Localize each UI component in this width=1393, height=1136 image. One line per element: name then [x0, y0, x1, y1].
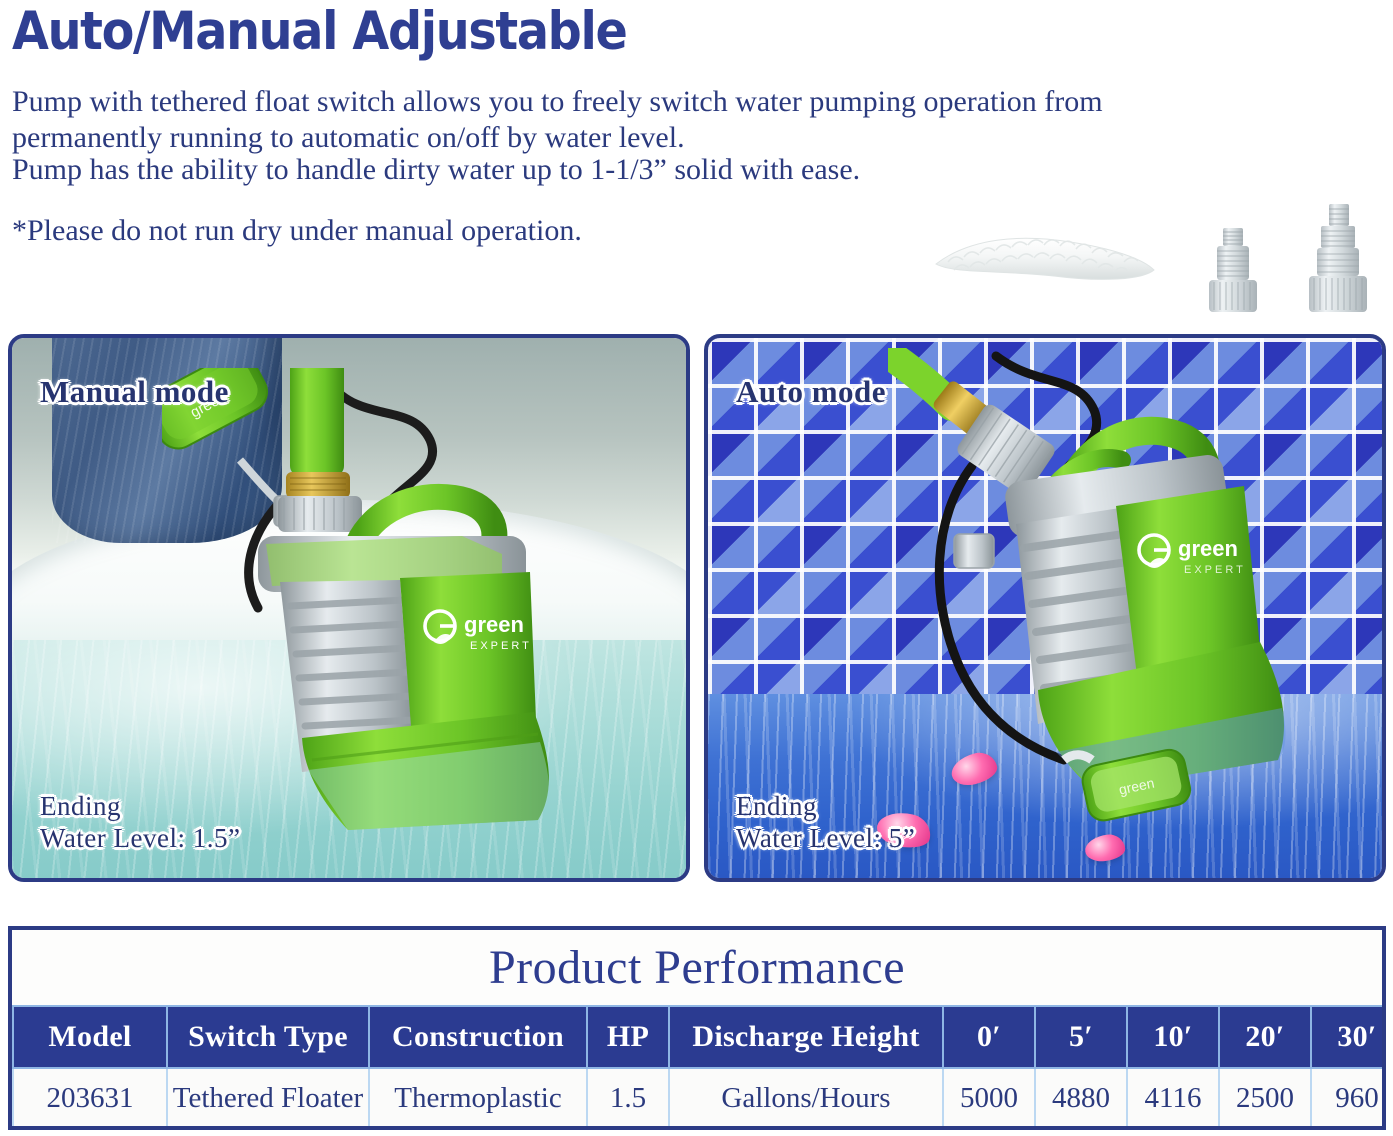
svg-text:green: green: [1178, 536, 1238, 561]
photo-label-ending-manual: Ending Water Level: 1.5”: [40, 790, 240, 854]
ending-word: Ending: [736, 790, 915, 822]
page-title: Auto/Manual Adjustable: [12, 2, 786, 64]
table-row: 203631 Tethered Floater Thermoplastic 1.…: [13, 1068, 1386, 1128]
photo-scene-bathtub: green: [12, 338, 686, 878]
photo-label-ending-auto: Ending Water Level: 5”: [736, 790, 915, 854]
table-header-row: Model Switch Type Construction HP Discha…: [13, 1006, 1386, 1068]
header-height-0: 0′: [943, 1006, 1035, 1068]
cell-switch-type: Tethered Floater: [167, 1068, 369, 1128]
cell-flow-30: 960: [1311, 1068, 1386, 1128]
photo-label-mode-auto: Auto mode: [736, 374, 886, 410]
description-line-1: Pump with tethered float switch allows y…: [12, 84, 1272, 120]
header-model: Model: [13, 1006, 167, 1068]
cell-flow-0: 5000: [943, 1068, 1035, 1128]
water-level-value: Water Level: 1.5”: [40, 822, 240, 854]
cell-hp: 1.5: [587, 1068, 669, 1128]
header-hp: HP: [587, 1006, 669, 1068]
svg-text:EXPERT: EXPERT: [1184, 564, 1246, 576]
cell-construction: Thermoplastic: [369, 1068, 587, 1128]
header-height-10: 10′: [1127, 1006, 1219, 1068]
photo-label-mode-manual: Manual mode: [40, 374, 229, 410]
performance-title: Product Performance: [12, 930, 1382, 1005]
accessory-images: [905, 196, 1385, 318]
header-height-20: 20′: [1219, 1006, 1311, 1068]
svg-text:green: green: [464, 612, 524, 637]
ending-word: Ending: [40, 790, 240, 822]
svg-text:EXPERT: EXPERT: [470, 640, 532, 652]
performance-table: Model Switch Type Construction HP Discha…: [12, 1005, 1386, 1129]
hose-adapter-large-image: [1305, 202, 1371, 316]
header-height-5: 5′: [1035, 1006, 1127, 1068]
cell-model: 203631: [13, 1068, 167, 1128]
cell-flow-20: 2500: [1219, 1068, 1311, 1128]
hose-adapter-small-image: [1203, 224, 1263, 316]
water-level-value: Water Level: 5”: [736, 822, 915, 854]
description-line-3: Pump has the ability to handle dirty wat…: [12, 152, 1272, 188]
header-height-30: 30′: [1311, 1006, 1386, 1068]
product-performance-card: Product Performance Model Switch Type Co…: [8, 926, 1386, 1130]
description-line-2: permanently running to automatic on/off …: [12, 120, 1272, 156]
header-discharge-height: Discharge Height: [669, 1006, 943, 1068]
photo-panel-auto-mode: green EXPERT green Auto mode Ending Wate…: [704, 334, 1386, 882]
cell-discharge-height: Gallons/Hours: [669, 1068, 943, 1128]
braided-rope-image: [930, 224, 1160, 290]
cell-flow-10: 4116: [1127, 1068, 1219, 1128]
photo-panel-manual-mode: green: [8, 334, 690, 882]
header-switch-type: Switch Type: [167, 1006, 369, 1068]
submersible-pump-manual: green: [162, 368, 582, 838]
cell-flow-5: 4880: [1035, 1068, 1127, 1128]
submersible-pump-auto: green EXPERT green: [888, 348, 1318, 848]
header-construction: Construction: [369, 1006, 587, 1068]
photo-scene-pool: green EXPERT green Auto mode Ending Wate…: [708, 338, 1382, 878]
